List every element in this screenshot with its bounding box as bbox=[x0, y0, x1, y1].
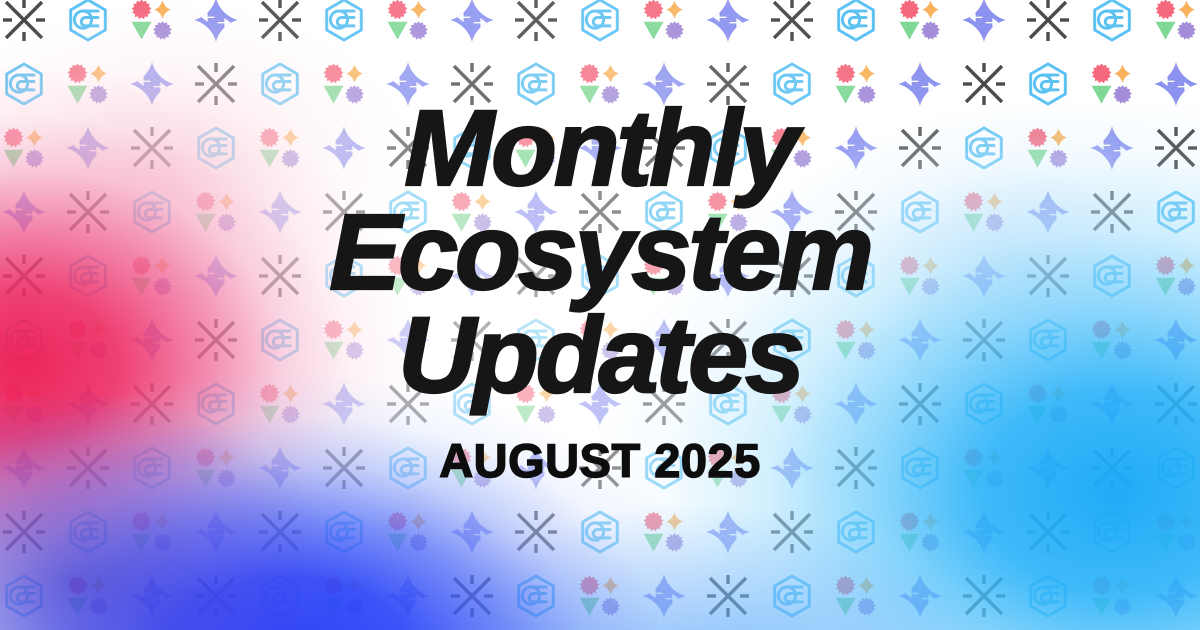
banner-root: Monthly Ecosystem Updates AUGUST 2025 bbox=[0, 0, 1200, 630]
pattern-flower-cluster-icon bbox=[705, 189, 751, 235]
pattern-hexagon-swirl-icon bbox=[257, 61, 303, 107]
pattern-diamond-arrow-icon bbox=[1153, 573, 1199, 619]
pattern-asterisk-icon bbox=[385, 381, 431, 427]
pattern-hexagon-swirl-icon bbox=[1, 573, 47, 619]
pattern-diamond-arrow-icon bbox=[897, 573, 943, 619]
pattern-hexagon-swirl-icon bbox=[705, 125, 751, 171]
pattern-flower-cluster-icon bbox=[1153, 253, 1199, 299]
pattern-asterisk-icon bbox=[513, 0, 559, 43]
pattern-flower-cluster-icon bbox=[769, 381, 815, 427]
pattern-asterisk-icon bbox=[449, 317, 495, 363]
pattern-asterisk-icon bbox=[961, 317, 1007, 363]
pattern-asterisk-icon bbox=[193, 573, 239, 619]
pattern-flower-cluster-icon bbox=[257, 125, 303, 171]
pattern-flower-cluster-icon bbox=[385, 0, 431, 43]
pattern-diamond-arrow-icon bbox=[961, 0, 1007, 43]
pattern-hexagon-swirl-icon bbox=[641, 189, 687, 235]
pattern-flower-cluster-icon bbox=[833, 61, 879, 107]
pattern-diamond-arrow-icon bbox=[385, 573, 431, 619]
pattern-flower-cluster-icon bbox=[577, 61, 623, 107]
pattern-diamond-arrow-icon bbox=[1089, 381, 1135, 427]
pattern-asterisk-icon bbox=[1025, 509, 1071, 555]
pattern-hexagon-swirl-icon bbox=[897, 189, 943, 235]
pattern-flower-cluster-icon bbox=[1089, 317, 1135, 363]
pattern-hexagon-swirl-icon bbox=[513, 317, 559, 363]
pattern-diamond-arrow-icon bbox=[705, 253, 751, 299]
pattern-diamond-arrow-icon bbox=[321, 125, 367, 171]
pattern-hexagon-swirl-icon bbox=[129, 445, 175, 491]
pattern-diamond-arrow-icon bbox=[129, 573, 175, 619]
pattern-hexagon-swirl-icon bbox=[65, 253, 111, 299]
pattern-flower-cluster-icon bbox=[897, 0, 943, 43]
pattern-asterisk-icon bbox=[769, 0, 815, 43]
pattern-diamond-arrow-icon bbox=[577, 381, 623, 427]
pattern-asterisk-icon bbox=[1025, 0, 1071, 43]
pattern-hexagon-swirl-icon bbox=[769, 317, 815, 363]
pattern-hexagon-swirl-icon bbox=[1153, 445, 1199, 491]
pattern-flower-cluster-icon bbox=[641, 509, 687, 555]
pattern-diamond-arrow-icon bbox=[705, 0, 751, 43]
pattern-asterisk-icon bbox=[321, 189, 367, 235]
pattern-hexagon-swirl-icon bbox=[193, 125, 239, 171]
pattern-flower-cluster-icon bbox=[1, 381, 47, 427]
pattern-diamond-arrow-icon bbox=[193, 509, 239, 555]
pattern-hexagon-swirl-icon bbox=[577, 0, 623, 43]
pattern-diamond-arrow-icon bbox=[193, 253, 239, 299]
pattern-diamond-arrow-icon bbox=[577, 125, 623, 171]
pattern-diamond-arrow-icon bbox=[1089, 125, 1135, 171]
pattern-asterisk-icon bbox=[449, 61, 495, 107]
pattern-flower-cluster-icon bbox=[577, 573, 623, 619]
pattern-asterisk-icon bbox=[705, 573, 751, 619]
pattern-diamond-arrow-icon bbox=[1153, 317, 1199, 363]
pattern-hexagon-swirl-icon bbox=[257, 317, 303, 363]
pattern-diamond-arrow-icon bbox=[449, 0, 495, 43]
pattern-flower-cluster-icon bbox=[1025, 381, 1071, 427]
pattern-diamond-arrow-icon bbox=[257, 445, 303, 491]
pattern-asterisk-icon bbox=[257, 0, 303, 43]
pattern-asterisk-icon bbox=[961, 573, 1007, 619]
pattern-asterisk-icon bbox=[513, 253, 559, 299]
pattern-hexagon-swirl-icon bbox=[1153, 189, 1199, 235]
pattern-hexagon-swirl-icon bbox=[961, 381, 1007, 427]
pattern-asterisk-icon bbox=[193, 317, 239, 363]
pattern-asterisk-icon bbox=[1089, 445, 1135, 491]
pattern-flower-cluster-icon bbox=[641, 253, 687, 299]
pattern-asterisk-icon bbox=[1089, 189, 1135, 235]
pattern-flower-cluster-icon bbox=[65, 317, 111, 363]
pattern-asterisk-icon bbox=[449, 573, 495, 619]
pattern-diamond-arrow-icon bbox=[65, 381, 111, 427]
pattern-flower-cluster-icon bbox=[961, 189, 1007, 235]
pattern-hexagon-swirl-icon bbox=[577, 509, 623, 555]
pattern-hexagon-swirl-icon bbox=[513, 61, 559, 107]
pattern-hexagon-swirl-icon bbox=[321, 253, 367, 299]
pattern-hexagon-swirl-icon bbox=[833, 253, 879, 299]
pattern-flower-cluster-icon bbox=[833, 317, 879, 363]
pattern-hexagon-swirl-icon bbox=[257, 573, 303, 619]
pattern-hexagon-swirl-icon bbox=[321, 509, 367, 555]
pattern-hexagon-swirl-icon bbox=[1089, 0, 1135, 43]
pattern-diamond-arrow-icon bbox=[1025, 445, 1071, 491]
pattern-hexagon-swirl-icon bbox=[449, 381, 495, 427]
pattern-diamond-arrow-icon bbox=[705, 509, 751, 555]
pattern-asterisk-icon bbox=[321, 445, 367, 491]
pattern-hexagon-swirl-icon bbox=[1, 317, 47, 363]
pattern-hexagon-swirl-icon bbox=[65, 0, 111, 43]
pattern-diamond-arrow-icon bbox=[641, 317, 687, 363]
pattern-diamond-arrow-icon bbox=[897, 61, 943, 107]
pattern-flower-cluster-icon bbox=[641, 0, 687, 43]
pattern-diamond-arrow-icon bbox=[833, 125, 879, 171]
pattern-hexagon-swirl-icon bbox=[1089, 253, 1135, 299]
pattern-flower-cluster-icon bbox=[321, 317, 367, 363]
pattern-hexagon-swirl-icon bbox=[833, 509, 879, 555]
pattern-hexagon-swirl-icon bbox=[1089, 509, 1135, 555]
pattern-flower-cluster-icon bbox=[513, 381, 559, 427]
pattern-diamond-arrow-icon bbox=[65, 125, 111, 171]
pattern-flower-cluster-icon bbox=[385, 509, 431, 555]
pattern-diamond-arrow-icon bbox=[961, 509, 1007, 555]
pattern-asterisk-icon bbox=[577, 445, 623, 491]
pattern-hexagon-swirl-icon bbox=[449, 125, 495, 171]
icon-pattern-layer bbox=[0, 0, 1200, 630]
pattern-asterisk-icon bbox=[769, 253, 815, 299]
pattern-hexagon-swirl-icon bbox=[65, 509, 111, 555]
pattern-asterisk-icon bbox=[1, 253, 47, 299]
pattern-asterisk-icon bbox=[385, 125, 431, 171]
pattern-diamond-arrow-icon bbox=[1025, 189, 1071, 235]
pattern-asterisk-icon bbox=[1153, 125, 1199, 171]
pattern-asterisk-icon bbox=[833, 189, 879, 235]
pattern-asterisk-icon bbox=[257, 253, 303, 299]
pattern-asterisk-icon bbox=[1025, 253, 1071, 299]
pattern-asterisk-icon bbox=[641, 125, 687, 171]
pattern-asterisk-icon bbox=[769, 509, 815, 555]
pattern-asterisk-icon bbox=[257, 509, 303, 555]
pattern-flower-cluster-icon bbox=[833, 573, 879, 619]
pattern-hexagon-swirl-icon bbox=[577, 253, 623, 299]
pattern-asterisk-icon bbox=[705, 317, 751, 363]
pattern-hexagon-swirl-icon bbox=[961, 125, 1007, 171]
pattern-diamond-arrow-icon bbox=[449, 253, 495, 299]
pattern-hexagon-swirl-icon bbox=[129, 189, 175, 235]
pattern-asterisk-icon bbox=[65, 189, 111, 235]
pattern-asterisk-icon bbox=[193, 61, 239, 107]
pattern-flower-cluster-icon bbox=[1089, 61, 1135, 107]
pattern-hexagon-swirl-icon bbox=[833, 0, 879, 43]
pattern-flower-cluster-icon bbox=[577, 317, 623, 363]
pattern-flower-cluster-icon bbox=[193, 189, 239, 235]
pattern-hexagon-swirl-icon bbox=[385, 189, 431, 235]
pattern-asterisk-icon bbox=[1, 0, 47, 43]
pattern-asterisk-icon bbox=[961, 61, 1007, 107]
pattern-asterisk-icon bbox=[1153, 381, 1199, 427]
pattern-diamond-arrow-icon bbox=[641, 573, 687, 619]
pattern-asterisk-icon bbox=[641, 381, 687, 427]
pattern-flower-cluster-icon bbox=[321, 61, 367, 107]
pattern-flower-cluster-icon bbox=[897, 509, 943, 555]
pattern-asterisk-icon bbox=[129, 125, 175, 171]
pattern-asterisk-icon bbox=[65, 445, 111, 491]
pattern-hexagon-swirl-icon bbox=[321, 0, 367, 43]
pattern-diamond-arrow-icon bbox=[897, 317, 943, 363]
pattern-flower-cluster-icon bbox=[193, 445, 239, 491]
pattern-hexagon-swirl-icon bbox=[769, 573, 815, 619]
pattern-flower-cluster-icon bbox=[65, 61, 111, 107]
pattern-flower-cluster-icon bbox=[129, 509, 175, 555]
pattern-hexagon-swirl-icon bbox=[193, 381, 239, 427]
pattern-asterisk-icon bbox=[705, 61, 751, 107]
pattern-diamond-arrow-icon bbox=[1, 445, 47, 491]
pattern-diamond-arrow-icon bbox=[385, 61, 431, 107]
pattern-flower-cluster-icon bbox=[513, 125, 559, 171]
pattern-flower-cluster-icon bbox=[961, 445, 1007, 491]
pattern-hexagon-swirl-icon bbox=[513, 573, 559, 619]
pattern-diamond-arrow-icon bbox=[129, 61, 175, 107]
pattern-hexagon-swirl-icon bbox=[705, 381, 751, 427]
pattern-diamond-arrow-icon bbox=[769, 445, 815, 491]
pattern-hexagon-swirl-icon bbox=[1025, 61, 1071, 107]
pattern-asterisk-icon bbox=[513, 509, 559, 555]
pattern-diamond-arrow-icon bbox=[641, 61, 687, 107]
pattern-diamond-arrow-icon bbox=[769, 189, 815, 235]
pattern-diamond-arrow-icon bbox=[513, 445, 559, 491]
pattern-hexagon-swirl-icon bbox=[897, 445, 943, 491]
pattern-diamond-arrow-icon bbox=[449, 509, 495, 555]
pattern-asterisk-icon bbox=[1, 509, 47, 555]
pattern-flower-cluster-icon bbox=[1089, 573, 1135, 619]
pattern-asterisk-icon bbox=[897, 381, 943, 427]
pattern-diamond-arrow-icon bbox=[1153, 61, 1199, 107]
pattern-hexagon-swirl-icon bbox=[385, 445, 431, 491]
pattern-hexagon-swirl-icon bbox=[641, 445, 687, 491]
pattern-flower-cluster-icon bbox=[385, 253, 431, 299]
pattern-hexagon-swirl-icon bbox=[1025, 573, 1071, 619]
pattern-hexagon-swirl-icon bbox=[1025, 317, 1071, 363]
pattern-flower-cluster-icon bbox=[321, 573, 367, 619]
pattern-flower-cluster-icon bbox=[1153, 509, 1199, 555]
pattern-hexagon-swirl-icon bbox=[1, 61, 47, 107]
pattern-diamond-arrow-icon bbox=[961, 253, 1007, 299]
pattern-flower-cluster-icon bbox=[897, 253, 943, 299]
pattern-diamond-arrow-icon bbox=[129, 317, 175, 363]
pattern-asterisk-icon bbox=[129, 381, 175, 427]
pattern-diamond-arrow-icon bbox=[833, 381, 879, 427]
pattern-diamond-arrow-icon bbox=[257, 189, 303, 235]
pattern-diamond-arrow-icon bbox=[193, 0, 239, 43]
pattern-asterisk-icon bbox=[577, 189, 623, 235]
pattern-hexagon-swirl-icon bbox=[769, 61, 815, 107]
pattern-diamond-arrow-icon bbox=[385, 317, 431, 363]
pattern-diamond-arrow-icon bbox=[321, 381, 367, 427]
pattern-flower-cluster-icon bbox=[1153, 0, 1199, 43]
pattern-flower-cluster-icon bbox=[1, 125, 47, 171]
pattern-flower-cluster-icon bbox=[705, 445, 751, 491]
pattern-flower-cluster-icon bbox=[129, 253, 175, 299]
pattern-asterisk-icon bbox=[833, 445, 879, 491]
pattern-flower-cluster-icon bbox=[129, 0, 175, 43]
pattern-diamond-arrow-icon bbox=[1, 189, 47, 235]
pattern-flower-cluster-icon bbox=[449, 189, 495, 235]
pattern-flower-cluster-icon bbox=[1025, 125, 1071, 171]
pattern-flower-cluster-icon bbox=[257, 381, 303, 427]
pattern-diamond-arrow-icon bbox=[513, 189, 559, 235]
pattern-flower-cluster-icon bbox=[769, 125, 815, 171]
pattern-flower-cluster-icon bbox=[449, 445, 495, 491]
pattern-asterisk-icon bbox=[897, 125, 943, 171]
pattern-flower-cluster-icon bbox=[65, 573, 111, 619]
